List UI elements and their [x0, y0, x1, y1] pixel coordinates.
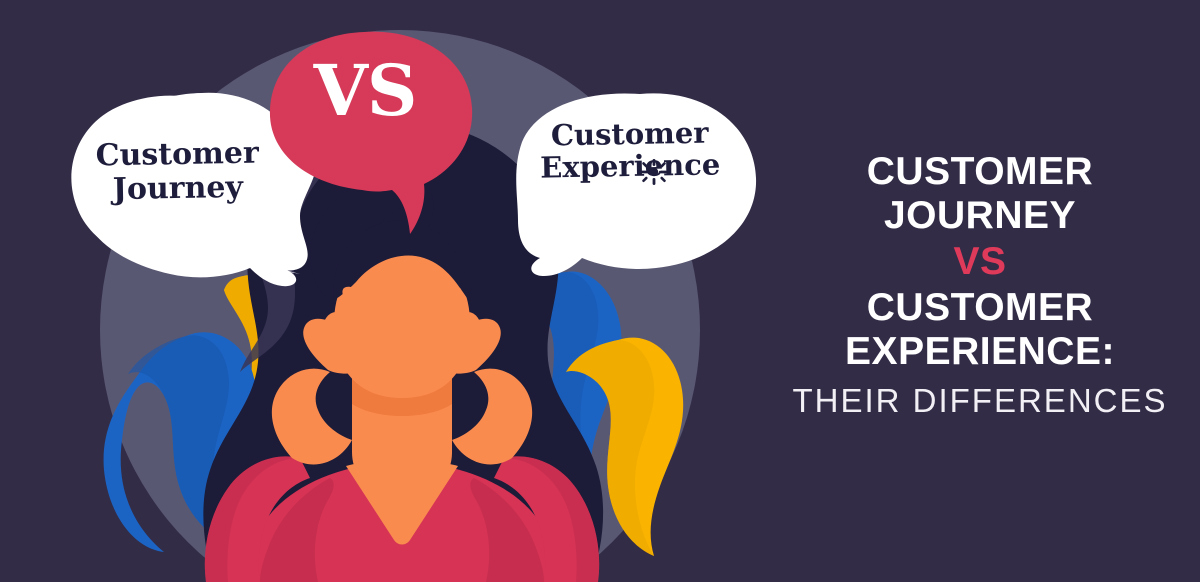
illustration-artwork [0, 0, 1200, 582]
banner-canvas: Customer Journey Customer Experience VS … [0, 0, 1200, 582]
